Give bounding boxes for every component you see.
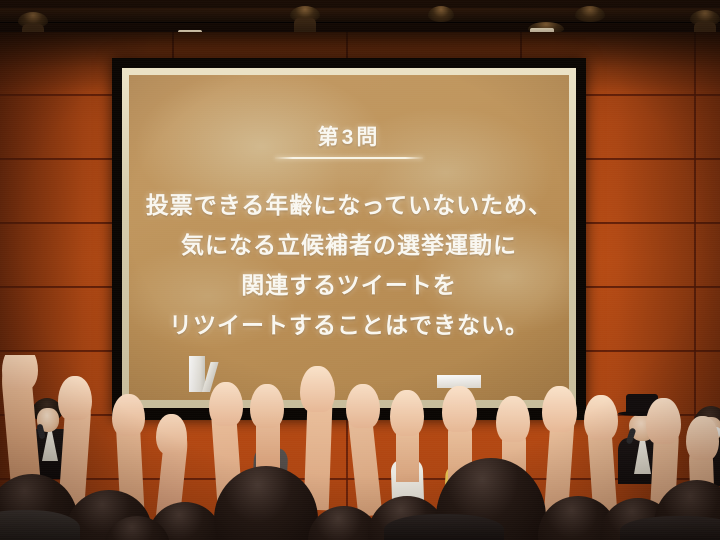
auditorium-scene: 第3問 投票できる年齢になっていないため、 気になる立候補者の選挙運動に 関連す… xyxy=(0,0,720,540)
slide-line: リツイートすることはできない。 xyxy=(169,305,529,345)
raised-hand xyxy=(58,376,92,420)
raised-hand xyxy=(646,398,681,444)
stage-light-icon xyxy=(575,6,605,22)
raised-hand xyxy=(156,414,187,454)
raised-hand xyxy=(250,384,284,428)
raised-hand xyxy=(2,355,38,390)
raised-hand xyxy=(209,382,243,426)
attendee-shoulder xyxy=(620,516,720,540)
raised-hand xyxy=(442,386,477,432)
slide-line: 関連するツイートを xyxy=(241,265,457,305)
raised-hand xyxy=(390,390,424,436)
raised-hand xyxy=(346,384,380,428)
projection-screen-surface: 第3問 投票できる年齢になっていないため、 気になる立候補者の選挙運動に 関連す… xyxy=(129,75,569,400)
raised-hand xyxy=(542,386,577,432)
presentation-slide: 第3問 投票できる年齢になっていないため、 気になる立候補者の選挙運動に 関連す… xyxy=(129,75,569,400)
raised-hand xyxy=(584,395,618,440)
raised-hand xyxy=(496,396,530,442)
attendee-shoulder xyxy=(384,514,504,540)
stage-light-icon xyxy=(428,6,454,22)
audience xyxy=(0,355,720,540)
raised-hand xyxy=(686,416,719,460)
slide-title-underline xyxy=(275,157,423,159)
slide-line: 投票できる年齢になっていないため、 xyxy=(146,185,552,225)
slide-line: 気になる立候補者の選挙運動に xyxy=(181,225,517,265)
slide-body: 投票できる年齢になっていないため、 気になる立候補者の選挙運動に 関連するツイー… xyxy=(146,185,552,345)
slide-title: 第3問 xyxy=(318,127,381,153)
raised-hand xyxy=(112,394,145,436)
raised-hand xyxy=(300,366,335,412)
lighting-truss xyxy=(0,8,720,23)
